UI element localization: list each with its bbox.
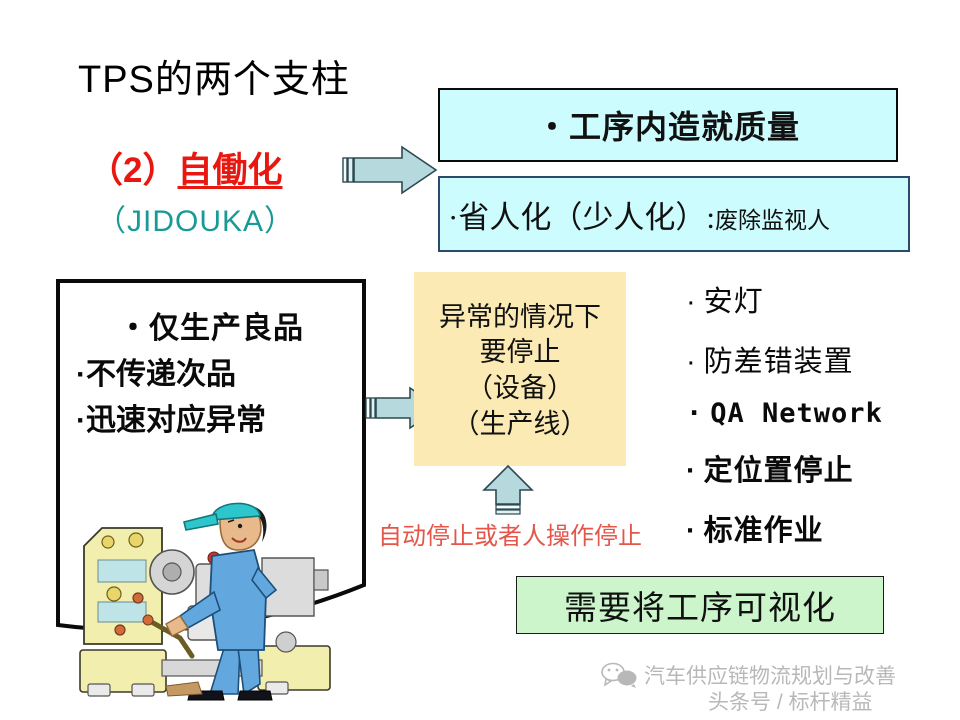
bullet-icon: · (686, 455, 697, 487)
wechat-icon (600, 662, 640, 688)
watermark-line-2: 头条号 / 标杆精益 (708, 686, 873, 716)
watermark: 汽车供应链物流规划与改善 头条号 / 标杆精益 (598, 660, 958, 718)
box-quality-in-process: ・工序内造就质量 (438, 88, 898, 162)
caption-auto-stop: 自动停止或者人操作停止 (378, 516, 642, 551)
page-title: TPS的两个支柱 (78, 48, 350, 103)
bullet-icon: · (686, 286, 697, 318)
box-manpower-sub: 废除监视人 (715, 208, 830, 233)
list-item-label: 安灯 (704, 286, 764, 318)
box-manpower-saving: ·省人化（少人化）:废除监视人 (438, 176, 910, 252)
list-item-label: 定位置停止 (704, 455, 854, 487)
list-item-label: 防差错装置 (704, 346, 854, 378)
subtitle-word: 自働化 (177, 151, 282, 190)
list-item: ·防差错装置 (686, 338, 954, 380)
box-visualize-process: 需要将工序可视化 (516, 576, 884, 634)
arrow-jidouka-to-pillars (340, 144, 440, 196)
stop-box-line-2: 要停止 (480, 335, 561, 371)
bullet-icon: · (686, 398, 703, 429)
box-visualize-label: 需要将工序可视化 (564, 581, 836, 629)
subtitle-jidouka: （2）自働化 (88, 142, 282, 193)
tools-list: ·安灯 ·防差错装置 ·QA Network ·定位置停止 ·标准作业 (686, 278, 954, 567)
list-item: ·定位置停止 (686, 447, 954, 489)
list-item-label: 标准作业 (704, 515, 824, 547)
stop-box-line-3: （设备） (466, 371, 574, 407)
subtitle-romaji: （JIDOUKA） (96, 196, 295, 240)
slide-canvas: TPS的两个支柱 （2）自働化 （JIDOUKA） ・工序内造就质量 ·省人化（… (0, 0, 960, 720)
box-manpower-main: ·省人化（少人化）: (448, 200, 715, 235)
list-item: ·标准作业 (686, 507, 954, 549)
bullet-icon: · (686, 346, 697, 378)
box-manpower-label: ·省人化（少人化）:废除监视人 (440, 192, 830, 237)
stop-box-line-4: （生产线） (453, 407, 588, 443)
subtitle-number: （2） (88, 151, 177, 190)
stop-box-line-1: 异常的情况下 (439, 300, 601, 336)
box-quality-label: ・工序内造就质量 (536, 102, 800, 148)
machinist-at-lathe-illustration (62, 498, 362, 706)
arrow-auto-stop-up (482, 464, 536, 516)
good-products-lines: ・仅生产良品 ·不传递次品 ·迅速对应异常 (58, 303, 364, 441)
list-item: ·QA Network (686, 398, 954, 429)
bullet-icon: · (686, 515, 697, 547)
list-item-label: QA Network (710, 398, 883, 429)
list-item: ·安灯 (686, 278, 954, 320)
box-stop-on-abnormality: 异常的情况下 要停止 （设备） （生产线） (414, 272, 626, 466)
good-products-line-3: ·迅速对应异常 (58, 395, 364, 439)
good-products-line-1: ・仅生产良品 (58, 303, 364, 347)
good-products-line-2: ·不传递次品 (58, 349, 364, 393)
